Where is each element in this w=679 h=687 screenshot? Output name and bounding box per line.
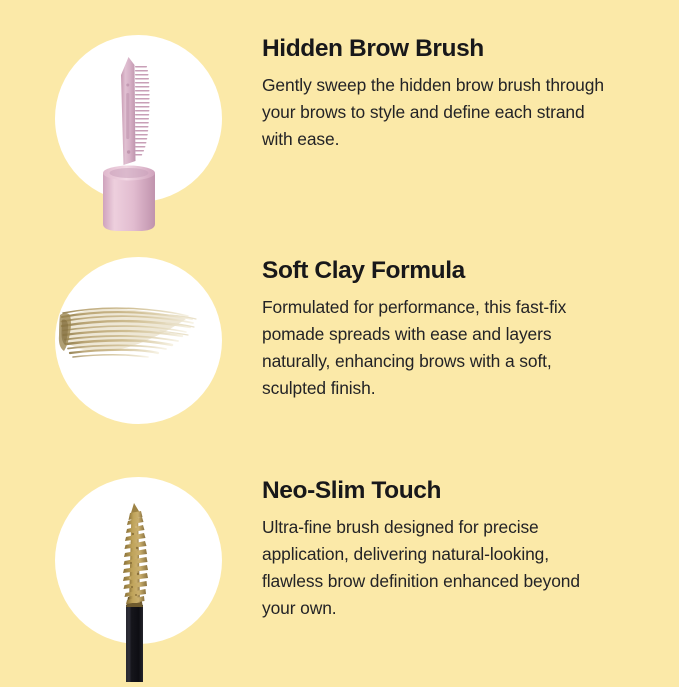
feature-title: Hidden Brow Brush <box>262 35 653 62</box>
feature-row: Neo-Slim Touch Ultra-fine brush designed… <box>0 477 679 647</box>
feature-row: Hidden Brow Brush Gently sweep the hidde… <box>0 35 679 205</box>
feature-text: Soft Clay Formula Formulated for perform… <box>222 257 679 402</box>
feature-media <box>0 477 222 647</box>
feature-row: Soft Clay Formula Formulated for perform… <box>0 257 679 427</box>
feature-media <box>0 35 222 205</box>
feature-title: Soft Clay Formula <box>262 257 653 284</box>
soft-clay-pomade-swatch-icon <box>0 257 222 462</box>
feature-title: Neo-Slim Touch <box>262 477 653 504</box>
feature-media <box>0 257 222 427</box>
feature-description: Ultra-fine brush designed for precise ap… <box>262 514 614 622</box>
hidden-brow-brush-comb-icon <box>0 35 222 240</box>
neo-slim-spiral-brush-icon <box>0 477 222 682</box>
feature-text: Hidden Brow Brush Gently sweep the hidde… <box>222 35 679 153</box>
product-feature-infographic: Hidden Brow Brush Gently sweep the hidde… <box>0 0 679 679</box>
feature-text: Neo-Slim Touch Ultra-fine brush designed… <box>222 477 679 622</box>
feature-description: Formulated for performance, this fast-fi… <box>262 294 614 402</box>
feature-description: Gently sweep the hidden brow brush throu… <box>262 72 614 153</box>
